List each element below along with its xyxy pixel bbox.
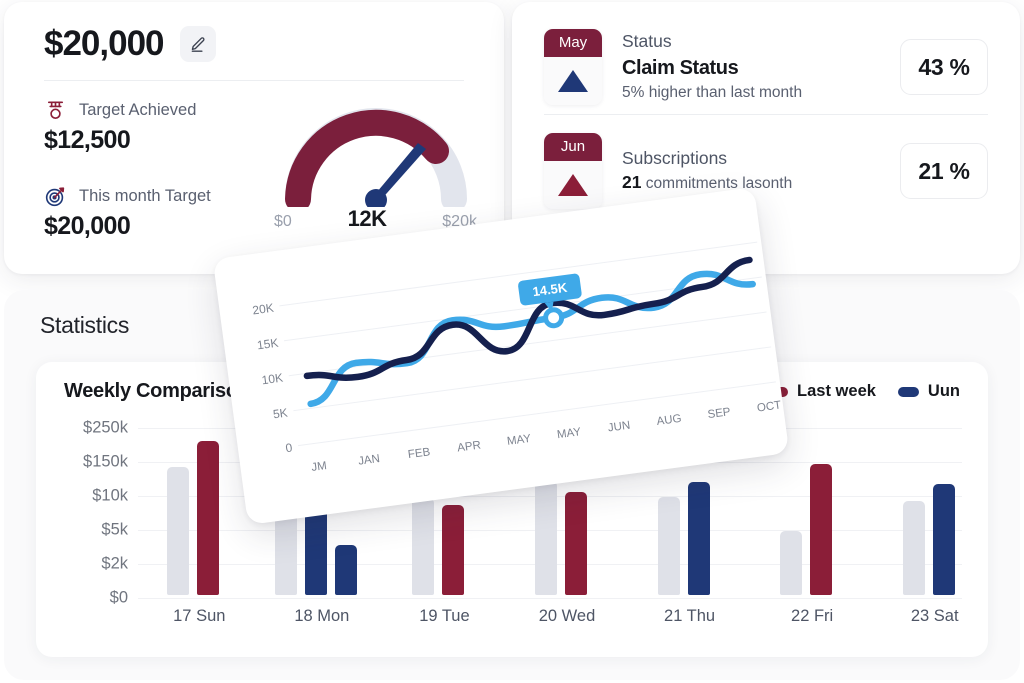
status-row-text: Status Claim Status 5% higher than last … <box>622 30 880 103</box>
subscriptions-count: 21 <box>622 172 641 192</box>
month-target-row: This month Target <box>44 185 254 208</box>
y-axis-label: 20K <box>252 301 275 318</box>
subscriptions-percent-badge: 21 % <box>900 143 988 199</box>
bar[interactable] <box>688 482 710 595</box>
x-axis-label: APR <box>457 440 482 455</box>
gridline <box>138 598 962 599</box>
y-axis-label: $5k <box>101 521 128 540</box>
legend-label-uun: Uun <box>928 382 960 401</box>
y-axis-label: $150k <box>83 453 128 472</box>
status-subtitle: 5% higher than last month <box>622 82 880 104</box>
gridline <box>298 382 776 446</box>
date-badge-body <box>544 57 602 105</box>
x-axis-label: JUN <box>607 420 631 435</box>
bar[interactable] <box>903 501 925 595</box>
line-chart-y-labels: 05K10K15K20K <box>252 301 294 458</box>
x-axis-label: 20 Wed <box>539 607 596 626</box>
x-axis-label: JM <box>311 460 328 474</box>
x-axis-label: 22 Fri <box>791 607 833 626</box>
bar[interactable] <box>167 467 189 595</box>
y-axis-label: 10K <box>261 371 284 388</box>
bar[interactable] <box>197 441 219 595</box>
edit-target-button[interactable] <box>180 26 216 62</box>
y-axis-label: $2k <box>101 555 128 574</box>
status-percent-badge: 43 % <box>900 39 988 95</box>
target-stats: Target Achieved $12,500 This month Targe… <box>44 99 254 271</box>
status-kicker: Status <box>622 30 880 54</box>
status-title: Claim Status <box>622 54 880 82</box>
target-card-header: $20,000 <box>4 2 504 64</box>
gridline <box>279 242 757 306</box>
bar[interactable] <box>442 505 464 595</box>
x-axis-label: OCT <box>756 399 782 414</box>
subscriptions-kicker: Subscriptions <box>622 147 880 171</box>
month-target-label: This month Target <box>79 187 211 206</box>
bar[interactable] <box>810 464 832 595</box>
date-badge-may: May <box>544 29 602 105</box>
bar[interactable] <box>275 510 297 596</box>
medal-icon <box>44 99 67 122</box>
bar[interactable] <box>335 545 357 595</box>
subscriptions-sub-text: commitments lasonth <box>646 175 792 192</box>
y-axis-label: 5K <box>272 406 288 422</box>
data-point-marker[interactable] <box>545 309 563 327</box>
y-axis-label: $0 <box>110 589 128 608</box>
line-chart-x-labels: JMJANFEBAPRMAYMAYJUNAUGSEPOCT <box>311 399 782 474</box>
date-badge-body <box>544 161 602 209</box>
legend-swatch-uun <box>898 387 919 397</box>
target-achieved-row: Target Achieved <box>44 99 254 122</box>
y-axis-label: $10k <box>92 487 128 506</box>
x-axis-label: 19 Tue <box>419 607 469 626</box>
bar[interactable] <box>658 497 680 595</box>
x-axis-label: JAN <box>358 453 381 468</box>
month-target-value: $20,000 <box>44 212 254 241</box>
bar[interactable] <box>933 484 955 595</box>
target-amount: $20,000 <box>44 24 164 64</box>
y-axis-label: 0 <box>285 440 294 455</box>
x-axis-label: AUG <box>656 413 682 428</box>
legend-item-uun[interactable]: Uun <box>898 382 960 401</box>
bar[interactable] <box>565 492 587 595</box>
x-axis-label: FEB <box>407 446 431 461</box>
target-achieved-label: Target Achieved <box>79 101 196 120</box>
bar[interactable] <box>780 531 802 595</box>
bar-group: 23 Sat <box>873 428 996 595</box>
triangle-up-red-icon <box>558 174 588 196</box>
date-badge-jun: Jun <box>544 133 602 209</box>
x-axis-label: MAY <box>556 426 582 441</box>
gauge-chart <box>276 99 476 207</box>
x-axis-label: 21 Thu <box>664 607 715 626</box>
date-badge-month: May <box>544 29 602 57</box>
weekly-comparison-title: Weekly Comparison <box>64 380 250 403</box>
gauge-current-label: 12K <box>348 206 387 232</box>
bar[interactable] <box>535 481 557 595</box>
x-axis-label: 23 Sat <box>911 607 959 626</box>
bar[interactable] <box>305 507 327 595</box>
bar-chart-legend: Last week Uun <box>767 382 960 401</box>
dashboard-stage: $20,000 Target Achieved <box>0 0 1024 683</box>
x-axis-label: 18 Mon <box>294 607 349 626</box>
gauge-min-label: $0 <box>274 213 292 231</box>
target-achieved-value: $12,500 <box>44 126 254 155</box>
y-axis-label: 15K <box>256 336 279 353</box>
target-icon <box>44 185 67 208</box>
x-axis-label: SEP <box>707 406 732 421</box>
triangle-up-navy-icon <box>558 70 588 92</box>
legend-label-last-week: Last week <box>797 382 876 401</box>
pencil-icon <box>188 35 207 54</box>
legend-item-last-week[interactable]: Last week <box>767 382 876 401</box>
x-axis-label: MAY <box>506 433 532 448</box>
gauge-needle <box>365 143 426 207</box>
date-badge-month: Jun <box>544 133 602 161</box>
x-axis-label: 17 Sun <box>173 607 225 626</box>
bar[interactable] <box>412 498 434 595</box>
y-axis-label: $250k <box>83 419 128 438</box>
status-row-claim[interactable]: May Status Claim Status 5% higher than l… <box>512 2 1020 114</box>
